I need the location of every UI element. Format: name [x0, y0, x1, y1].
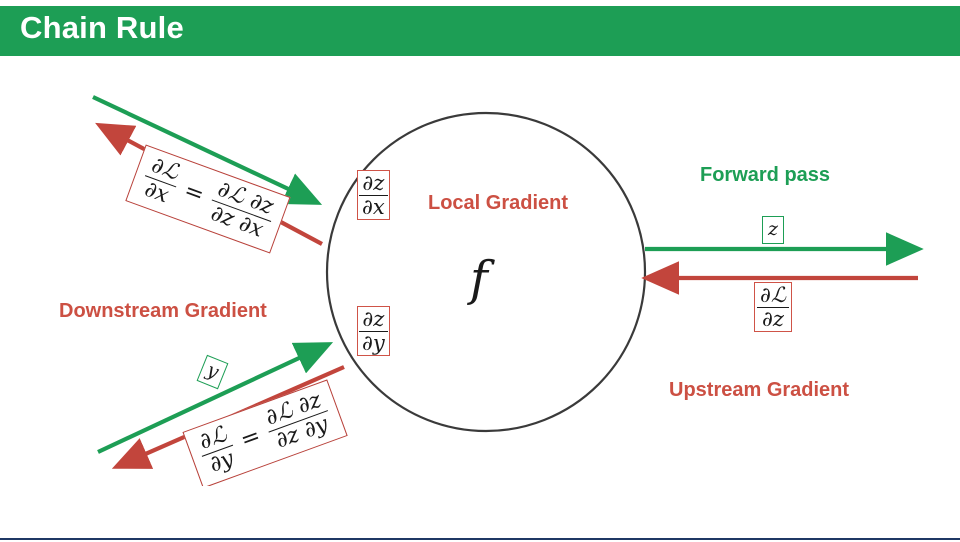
chain-rule-diagram: ∂z ∂x ∂z ∂y Local Gradient f x y Downstr… [0, 56, 960, 486]
function-symbol: f [470, 251, 488, 307]
local-gradient-0-denominator: ∂x [359, 195, 388, 219]
upstream-gradient-numerator: ∂ℒ [757, 284, 789, 307]
page-title: Chain Rule [20, 10, 184, 46]
downstream-gradient-label: Downstream Gradient [59, 300, 267, 323]
footer-divider [0, 538, 960, 540]
local-gradient-1-denominator: ∂y [359, 331, 388, 355]
local-gradient-label: Local Gradient [428, 192, 568, 215]
upstream-gradient-denominator: ∂z [757, 307, 789, 331]
output-tag-z: z [762, 216, 784, 244]
upstream-gradient-label: Upstream Gradient [669, 379, 849, 402]
local-gradient-box-dz-dx: ∂z ∂x [357, 170, 390, 220]
slide-title-bar: Chain Rule [0, 6, 960, 56]
slide-footer: Seoul National University Graduate Schoo… [0, 486, 960, 542]
formula-y-equals: = [237, 423, 264, 454]
slide-canvas: Chain Rule [0, 0, 960, 542]
local-gradient-0-numerator: ∂z [359, 172, 388, 195]
local-gradient-1-numerator: ∂z [359, 308, 388, 331]
forward-pass-label: Forward pass [700, 164, 830, 187]
local-gradient-box-dz-dy: ∂z ∂y [357, 306, 390, 356]
upstream-gradient-box: ∂ℒ ∂z [754, 282, 792, 332]
formula-x-equals: = [180, 178, 207, 209]
